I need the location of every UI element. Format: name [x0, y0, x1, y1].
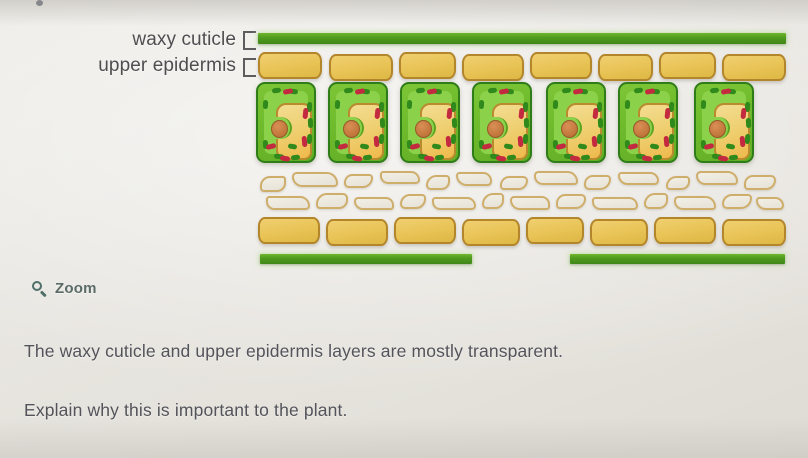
chloroplast: [746, 118, 752, 128]
layer-palisade-mesophyll: [256, 82, 788, 164]
organelle-red: [718, 155, 729, 161]
bracket-upper-epidermis: [243, 58, 256, 77]
spongy-mesophyll-cell: [426, 175, 450, 190]
spongy-mesophyll-cell: [482, 193, 504, 209]
spongy-mesophyll-cell: [592, 197, 638, 210]
lower-epidermis-cell: [394, 217, 456, 244]
organelle-red: [352, 155, 363, 161]
chloroplast: [670, 118, 676, 128]
palisade-nucleus: [343, 120, 360, 138]
palisade-cell-wall: [694, 82, 754, 163]
palisade-cell: [328, 82, 388, 163]
layer-upper-cuticle: [258, 33, 786, 44]
organelle-red: [302, 136, 308, 147]
spongy-mesophyll-cell: [344, 174, 373, 188]
spongy-mesophyll-cell: [744, 175, 776, 190]
upper-epidermis-cell: [258, 52, 322, 79]
spongy-mesophyll-cell: [696, 171, 738, 185]
spongy-mesophyll-cell: [400, 194, 426, 209]
organelle-red: [374, 136, 380, 147]
spongy-mesophyll-cell: [260, 176, 286, 192]
spongy-mesophyll-cell: [534, 171, 578, 185]
chloroplast: [308, 118, 314, 128]
organelle-red: [664, 136, 670, 147]
magnifying-glass-icon: [32, 281, 48, 297]
zoom-label: Zoom: [55, 280, 97, 297]
organelle-red: [518, 136, 524, 147]
spongy-mesophyll-cell: [432, 197, 476, 210]
palisade-nucleus: [271, 120, 288, 138]
lower-epidermis-cell: [590, 219, 648, 246]
chloroplast: [625, 100, 630, 109]
lower-epidermis-cell: [654, 217, 716, 244]
spongy-mesophyll-cell: [316, 193, 348, 209]
spongy-mesophyll-cell: [644, 193, 668, 209]
zoom-button[interactable]: Zoom: [32, 280, 97, 297]
lower-epidermis-cell: [722, 219, 786, 246]
chloroplast: [379, 134, 385, 144]
upper-epidermis-cell: [462, 54, 524, 81]
palisade-nucleus: [415, 120, 432, 138]
chloroplast: [452, 118, 458, 128]
organelle-red: [424, 155, 435, 161]
upper-epidermis-cell: [530, 52, 592, 79]
chloroplast: [523, 134, 529, 144]
upper-epidermis-cell: [399, 52, 456, 79]
organelle-red: [496, 155, 507, 161]
spongy-mesophyll-cell: [722, 194, 752, 209]
palisade-nucleus: [709, 120, 726, 138]
chloroplast: [669, 134, 675, 144]
palisade-nucleus: [561, 120, 578, 138]
palisade-cell-wall: [328, 82, 388, 163]
palisade-cell-wall: [400, 82, 460, 163]
chloroplast: [701, 100, 706, 109]
layer-lower-cuticle-left: [260, 254, 472, 264]
label-upper-epidermis: upper epidermis: [0, 55, 236, 77]
chloroplast: [380, 118, 386, 128]
lower-epidermis-cell: [462, 219, 520, 246]
bracket-waxy-cuticle: [243, 31, 256, 50]
layer-lower-cuticle-right: [570, 254, 785, 264]
page-speck: [36, 0, 43, 6]
organelle-red: [740, 136, 746, 147]
chloroplast: [745, 134, 751, 144]
chloroplast: [598, 118, 604, 128]
chloroplast: [407, 100, 412, 109]
palisade-cell: [546, 82, 606, 163]
lower-epidermis-cell: [526, 217, 584, 244]
chloroplast: [479, 100, 484, 109]
palisade-cell-wall: [256, 82, 316, 163]
organelle-red: [446, 136, 452, 147]
spongy-mesophyll-cell: [666, 176, 690, 190]
chloroplast: [553, 100, 558, 109]
spongy-mesophyll-cell: [674, 196, 716, 210]
upper-epidermis-cell: [598, 54, 653, 81]
palisade-cell-wall: [546, 82, 606, 163]
lower-epidermis-cell: [326, 219, 388, 246]
organelle-red: [570, 155, 581, 161]
lower-epidermis-cell: [258, 217, 320, 244]
spongy-mesophyll-cell: [556, 194, 586, 209]
palisade-cell-wall: [618, 82, 678, 163]
label-waxy-cuticle: waxy cuticle: [0, 29, 236, 51]
spongy-mesophyll-cell: [500, 176, 528, 190]
chloroplast: [451, 134, 457, 144]
palisade-cell: [618, 82, 678, 163]
spongy-mesophyll-cell: [266, 196, 310, 210]
upper-epidermis-cell: [329, 54, 393, 81]
layer-upper-epidermis: [256, 50, 788, 84]
palisade-nucleus: [633, 120, 650, 138]
question-text-line-1: The waxy cuticle and upper epidermis lay…: [24, 341, 563, 362]
spongy-mesophyll-cell: [456, 172, 492, 186]
layer-lower-epidermis: [256, 215, 788, 249]
spongy-mesophyll-cell: [618, 172, 659, 185]
palisade-nucleus: [487, 120, 504, 138]
question-text-line-2: Explain why this is important to the pla…: [24, 400, 348, 421]
spongy-mesophyll-cell: [354, 197, 394, 210]
chloroplast: [307, 134, 313, 144]
spongy-mesophyll-cell: [756, 197, 784, 210]
spongy-mesophyll-cell: [584, 175, 611, 190]
organelle-red: [642, 155, 653, 161]
palisade-cell: [472, 82, 532, 163]
layer-spongy-mesophyll: [256, 170, 788, 214]
palisade-cell: [256, 82, 316, 163]
chloroplast: [335, 100, 340, 109]
spongy-mesophyll-cell: [292, 172, 338, 187]
organelle-red: [280, 155, 291, 161]
leaf-cross-section-diagram: [256, 30, 788, 270]
chloroplast: [524, 118, 530, 128]
palisade-cell: [694, 82, 754, 163]
upper-epidermis-cell: [659, 52, 716, 79]
spongy-mesophyll-cell: [380, 171, 420, 184]
chloroplast: [597, 134, 603, 144]
spongy-mesophyll-cell: [510, 196, 550, 210]
upper-epidermis-cell: [722, 54, 786, 81]
palisade-cell: [400, 82, 460, 163]
chloroplast: [263, 100, 268, 109]
organelle-red: [592, 136, 598, 147]
palisade-cell-wall: [472, 82, 532, 163]
